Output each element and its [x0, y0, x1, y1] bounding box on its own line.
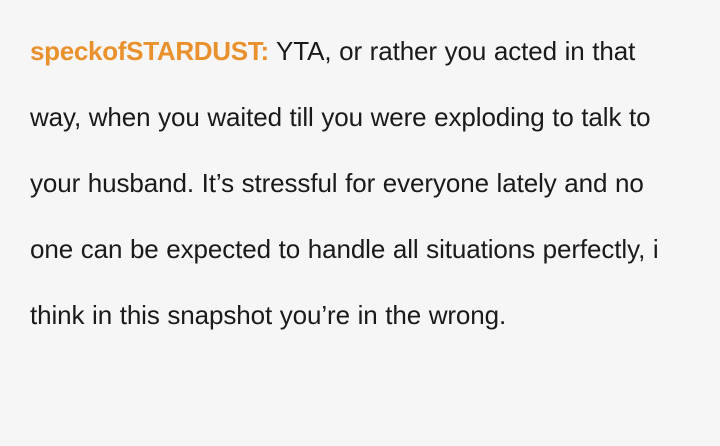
- comment-body-text: YTA, or rather you acted in that way, wh…: [30, 36, 659, 330]
- comment-block: speckofSTARDUST: YTA, or rather you acte…: [30, 18, 680, 348]
- comment-author-body-separator: [269, 36, 276, 66]
- comment-author[interactable]: speckofSTARDUST:: [30, 36, 269, 66]
